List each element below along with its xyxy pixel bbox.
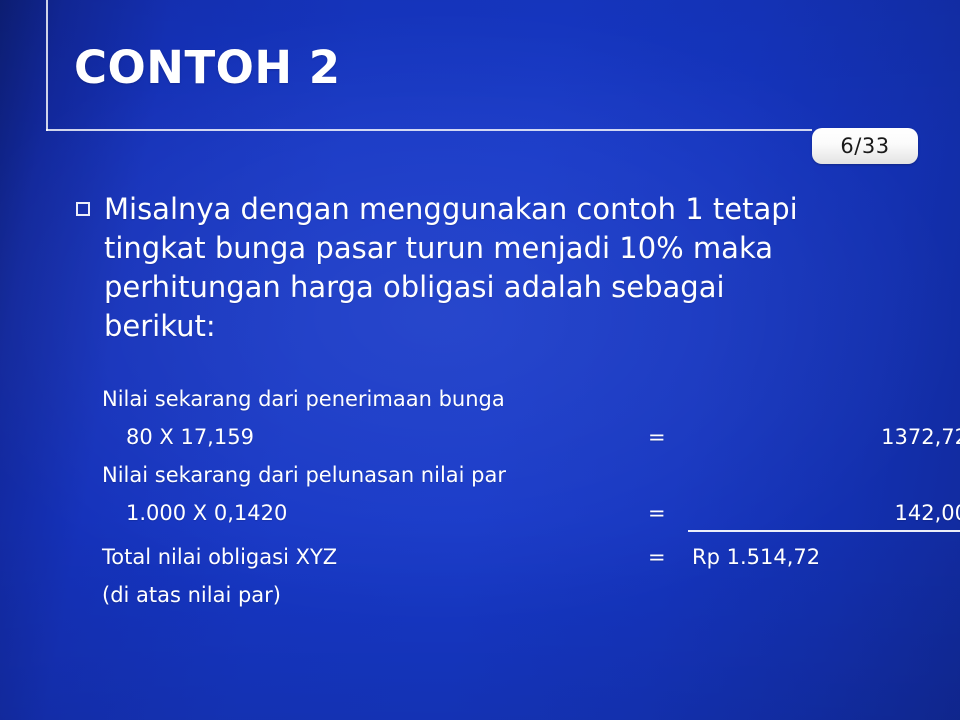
calculation-row: 1.000 X 0,1420 = 142,00 [102,498,942,542]
bullet-paragraph-text: Misalnya dengan menggunakan contoh 1 tet… [104,190,804,346]
calculation-value-total: Rp 1.514,72 [692,542,960,572]
calculation-row: Nilai sekarang dari penerimaan bunga [102,384,942,422]
slide-canvas: CONTOH 2 6/33 Misalnya dengan menggunaka… [0,0,960,720]
calculation-label: Total nilai obligasi XYZ [102,542,337,572]
calculation-equals: = [648,498,666,528]
calculation-label: 80 X 17,159 [126,422,254,452]
title-frame-horizontal-rule [46,129,812,131]
calculation-row-note: (di atas nilai par) [102,580,942,618]
calculation-table: Nilai sekarang dari penerimaan bunga 80 … [102,384,942,618]
slide-title: CONTOH 2 [74,45,341,90]
calculation-label: Nilai sekarang dari pelunasan nilai par [102,460,506,490]
calculation-row-total: Total nilai obligasi XYZ = Rp 1.514,72 [102,542,942,580]
bullet-paragraph: Misalnya dengan menggunakan contoh 1 tet… [76,190,936,346]
title-frame-vertical-rule [46,0,48,131]
calculation-row: 80 X 17,159 = 1372,72 [102,422,942,460]
hollow-square-bullet-icon [76,202,90,216]
calculation-value-subtotal: 142,00 [688,498,960,532]
calculation-note: (di atas nilai par) [102,580,281,610]
calculation-equals: = [648,422,666,452]
calculation-equals: = [648,542,666,572]
calculation-label: Nilai sekarang dari penerimaan bunga [102,384,505,414]
page-number-badge: 6/33 [812,128,918,164]
calculation-value: 1372,72 [688,422,960,452]
page-number-label: 6/33 [840,136,889,157]
calculation-label: 1.000 X 0,1420 [126,498,287,528]
calculation-row: Nilai sekarang dari pelunasan nilai par [102,460,942,498]
